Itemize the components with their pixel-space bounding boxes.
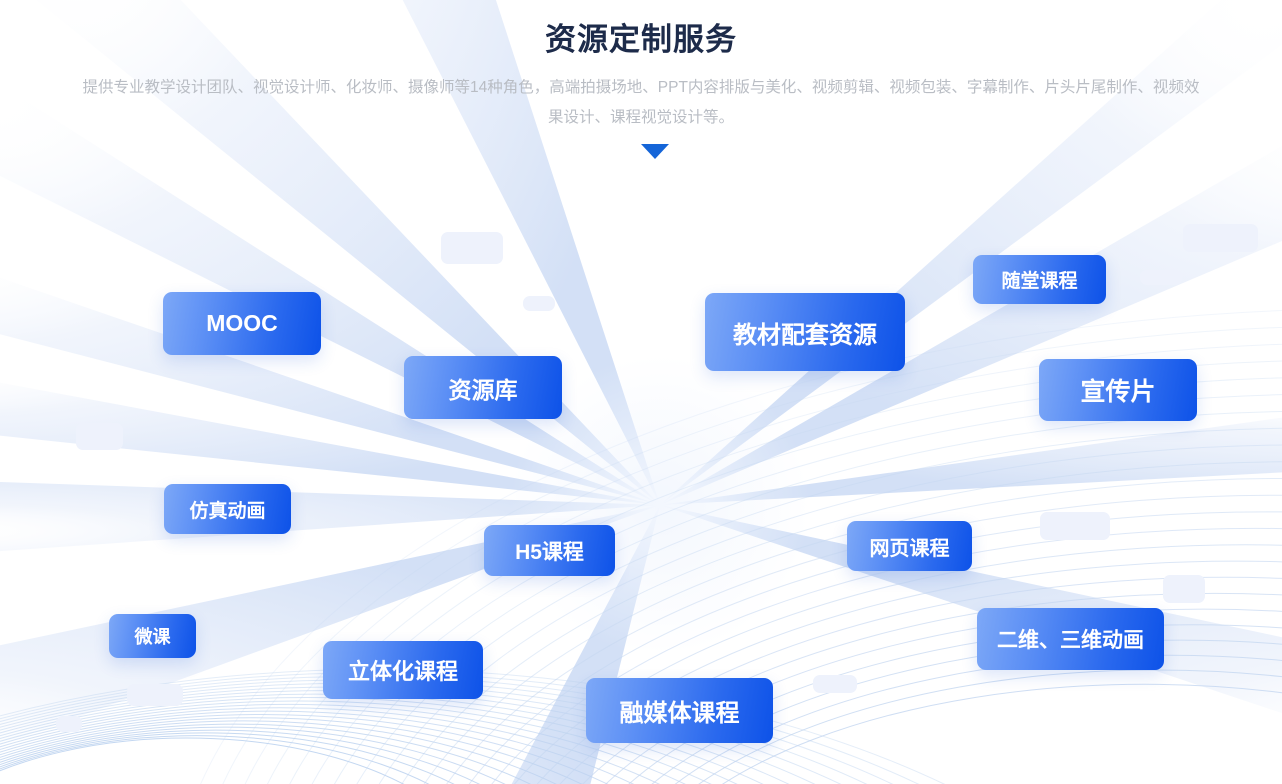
tag-web-course[interactable]: 网页课程 [847, 521, 972, 571]
tag-sim-animation[interactable]: 仿真动画 [164, 484, 291, 534]
tag-3d-course[interactable]: 立体化课程 [323, 641, 483, 699]
tag-2d-3d-animation[interactable]: 二维、三维动画 [977, 608, 1164, 670]
tag-label: 仿真动画 [189, 496, 265, 523]
tag-label: 立体化课程 [348, 654, 458, 686]
tag-label: 随堂课程 [1001, 266, 1077, 293]
tag-mooc[interactable]: MOOC [163, 292, 321, 355]
tag-h5-course[interactable]: H5课程 [484, 525, 615, 576]
tag-resource-lib[interactable]: 资源库 [404, 356, 562, 419]
tag-promo-video[interactable]: 宣传片 [1039, 359, 1197, 421]
tag-media-course[interactable]: 融媒体课程 [586, 678, 773, 743]
tag-label: MOOC [206, 310, 278, 337]
tag-class-course[interactable]: 随堂课程 [973, 255, 1106, 304]
diagram-canvas: 资源定制服务 提供专业教学设计团队、视觉设计师、化妆师、摄像师等14种角色，高端… [0, 0, 1282, 784]
tag-label: 融媒体课程 [620, 693, 740, 728]
tag-label: H5课程 [515, 536, 584, 566]
tag-micro-course[interactable]: 微课 [109, 614, 196, 658]
tag-label: 教材配套资源 [733, 315, 877, 350]
tag-list: MOOC资源库教材配套资源随堂课程宣传片仿真动画H5课程网页课程微课立体化课程二… [0, 0, 1282, 784]
tag-label: 二维、三维动画 [997, 624, 1144, 654]
tag-label: 宣传片 [1080, 372, 1155, 408]
tag-textbook-res[interactable]: 教材配套资源 [705, 293, 905, 371]
tag-label: 微课 [135, 623, 171, 649]
tag-label: 网页课程 [870, 532, 950, 561]
tag-label: 资源库 [449, 371, 518, 405]
